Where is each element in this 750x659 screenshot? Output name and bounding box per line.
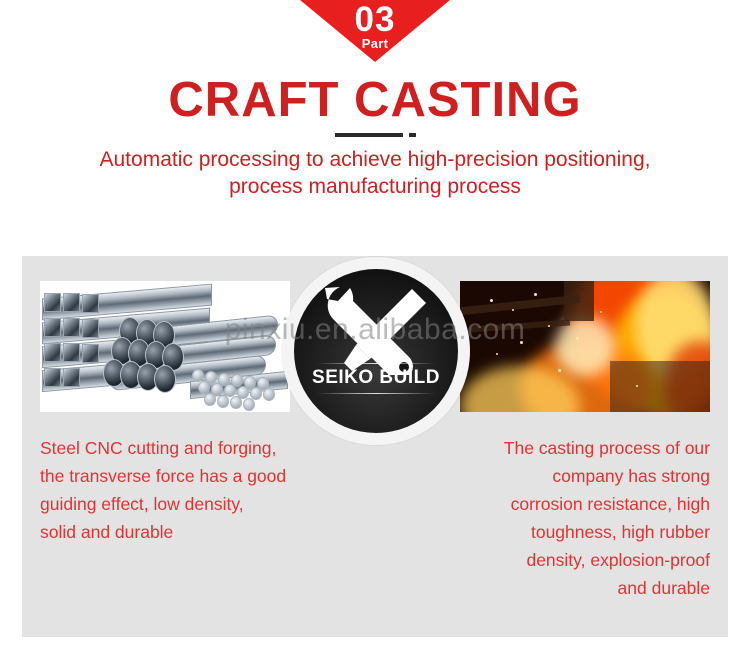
logo-rule-top bbox=[316, 363, 436, 364]
right-caption-line-2: company has strong bbox=[455, 462, 710, 490]
part-number: 03 bbox=[300, 0, 450, 37]
divider-dot bbox=[409, 133, 416, 137]
steel-pipes-illustration bbox=[40, 281, 290, 412]
left-caption-line-1: Steel CNC cutting and forging, bbox=[40, 434, 340, 462]
part-label: Part bbox=[300, 37, 450, 50]
part-number-badge: 03 Part bbox=[300, 0, 450, 62]
left-caption-line-3: guiding effect, low density, bbox=[40, 490, 340, 518]
right-caption-line-4: toughness, high rubber bbox=[455, 518, 710, 546]
right-caption-line-5: density, explosion-proof bbox=[455, 546, 710, 574]
logo-rule-bottom bbox=[316, 393, 436, 394]
right-caption-line-3: corrosion resistance, high bbox=[455, 490, 710, 518]
divider-bar bbox=[335, 133, 403, 137]
right-caption-line-6: and durable bbox=[455, 574, 710, 602]
company-logo: SEIKO BUILD bbox=[294, 269, 458, 433]
wrench-and-screwdriver-icon bbox=[294, 283, 458, 375]
foundry-illustration bbox=[460, 281, 710, 412]
right-caption: The casting process of our company has s… bbox=[455, 434, 710, 602]
left-caption: Steel CNC cutting and forging, the trans… bbox=[40, 434, 340, 546]
left-caption-line-2: the transverse force has a good bbox=[40, 462, 340, 490]
page-subtitle: Automatic processing to achieve high-pre… bbox=[25, 146, 725, 200]
right-caption-line-1: The casting process of our bbox=[455, 434, 710, 462]
left-caption-line-4: solid and durable bbox=[40, 518, 340, 546]
subtitle-line-2: process manufacturing process bbox=[25, 173, 725, 200]
subtitle-line-1: Automatic processing to achieve high-pre… bbox=[25, 146, 725, 173]
page-title: CRAFT CASTING bbox=[0, 72, 750, 128]
promo-banner: 03 Part CRAFT CASTING Automatic processi… bbox=[0, 0, 750, 659]
foundry-photo bbox=[460, 281, 710, 412]
logo-name: SEIKO BUILD bbox=[294, 367, 458, 389]
steel-pipes-photo bbox=[40, 281, 290, 412]
title-divider bbox=[0, 133, 750, 137]
